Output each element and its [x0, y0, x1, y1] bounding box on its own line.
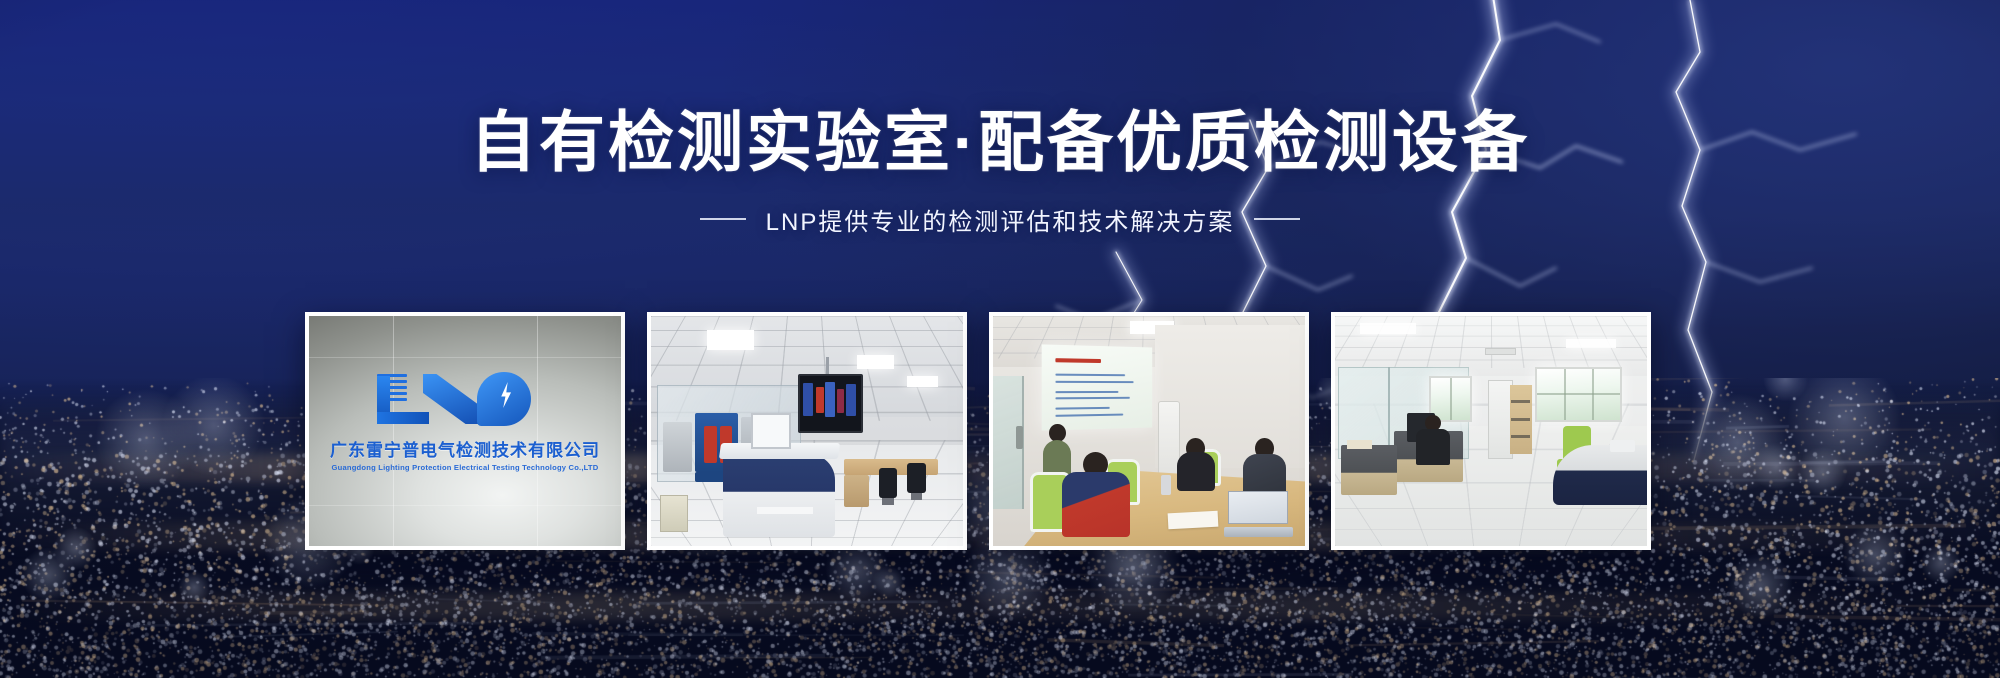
door-handle-icon [1016, 426, 1022, 449]
ceiling-light [857, 355, 894, 369]
control-console [723, 454, 835, 537]
photo-office [1335, 316, 1647, 546]
dash-left-icon [700, 218, 746, 220]
wall-seam [309, 357, 621, 358]
ceiling-light [907, 376, 938, 388]
company-logo-group: 广东雷宁普电气检测技术有限公司 Guangdong Lighting Prote… [309, 368, 621, 472]
test-equipment [663, 422, 691, 473]
ceiling-light [1566, 339, 1616, 348]
office-chair [879, 468, 898, 498]
laptop-base [1224, 527, 1293, 537]
bookshelf [1510, 385, 1532, 454]
test-equipment [704, 426, 716, 463]
ceiling-light [1360, 323, 1416, 335]
company-name-en: Guangdong Lighting Protection Electrical… [332, 463, 599, 472]
gallery-card-laboratory[interactable] [647, 312, 967, 550]
slide-line [1056, 391, 1119, 393]
page-title: 自有检测实验室·配备优质检测设备 [0, 104, 2000, 182]
ceiling-vent [1485, 348, 1516, 355]
console-papers [757, 507, 813, 514]
workstation-cabinet [844, 475, 869, 507]
projection-screen [1042, 344, 1153, 430]
page-subtitle: LNP提供专业的检测评估和技术解决方案 [766, 202, 1235, 237]
gallery-strip: 广东雷宁普电气检测技术有限公司 Guangdong Lighting Prote… [305, 312, 1647, 550]
slide-line [1056, 380, 1134, 382]
reception-counter [1553, 445, 1647, 505]
subtitle-row: LNP提供专业的检测评估和技术解决方案 [0, 202, 2000, 237]
lnp-logo-icon [365, 368, 565, 430]
thermos-cup [1161, 475, 1170, 496]
photo-logo-wall: 广东雷宁普电气检测技术有限公司 Guangdong Lighting Prote… [309, 316, 621, 546]
photo-laboratory [651, 316, 963, 546]
gallery-card-office[interactable] [1331, 312, 1651, 550]
photo-meeting-room [993, 316, 1305, 546]
office-desk [1341, 445, 1397, 496]
logo-letter-p [477, 372, 531, 426]
slide-line [1056, 413, 1123, 416]
laptop-screen [1228, 491, 1288, 524]
attendee-body [1177, 452, 1214, 491]
attendee-body [1062, 472, 1131, 536]
logo-letter-n [423, 374, 479, 424]
company-name-cn: 广东雷宁普电气检测技术有限公司 [330, 436, 600, 461]
office-window [1535, 367, 1622, 422]
documents [1167, 510, 1218, 529]
gallery-card-logo-wall[interactable]: 广东雷宁普电气检测技术有限公司 Guangdong Lighting Prote… [305, 312, 625, 550]
hero-text-block: 自有检测实验室·配备优质检测设备 LNP提供专业的检测评估和技术解决方案 [0, 104, 2000, 237]
logo-letter-l-foot [377, 412, 429, 424]
laptop [1224, 491, 1293, 537]
slide-line [1056, 374, 1125, 377]
console-monitor [751, 413, 792, 450]
slide-line [1056, 407, 1110, 410]
slide-title-bar [1056, 358, 1101, 363]
gallery-card-meeting-room[interactable] [989, 312, 1309, 550]
hero-banner: 自有检测实验室·配备优质检测设备 LNP提供专业的检测评估和技术解决方案 [0, 0, 2000, 678]
office-chair [907, 463, 926, 493]
dash-right-icon [1254, 218, 1300, 220]
desk-papers [1347, 440, 1372, 449]
counter-items [1610, 440, 1635, 452]
employee-body [1416, 429, 1450, 466]
wall-tv [798, 374, 864, 434]
slide-line [1056, 397, 1130, 400]
lab-trolley [660, 495, 688, 532]
ceiling-light [707, 330, 754, 351]
wall-seam [309, 505, 621, 506]
